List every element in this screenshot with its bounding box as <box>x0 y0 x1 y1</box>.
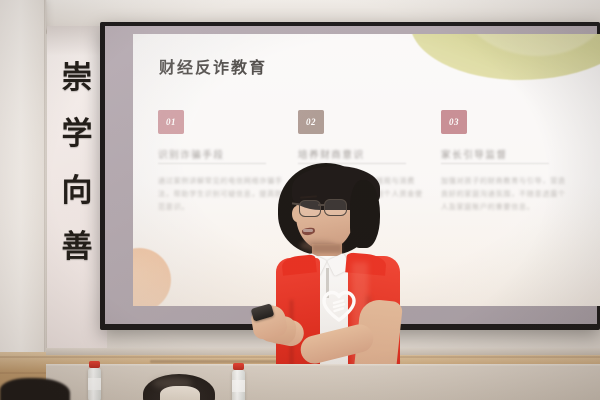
water-bottle-label <box>88 378 101 390</box>
calligraphy-char-2: 学 <box>62 118 93 149</box>
water-bottle-cap <box>89 361 100 368</box>
slide-column-heading-3: 家长引导监督 <box>441 147 573 161</box>
slide-column-3: 03 家长引导监督 加强对孩子的财商教育与引导，营造良好的家庭沟通氛围，不随意透… <box>441 110 573 215</box>
audience-collar <box>160 386 200 400</box>
calligraphy-char-1: 崇 <box>62 62 93 93</box>
presenter-hair-side <box>350 180 380 248</box>
slide-title: 财经反诈教育 <box>159 54 267 78</box>
slide-column-body-3: 加强对孩子的财商教育与引导，营造良好的家庭沟通氛围，不随意透露个人及家庭账户的重… <box>441 176 567 215</box>
slide-column-rule <box>441 163 549 164</box>
panel-shadow <box>47 26 107 56</box>
heart-hand-volunteer-logo-icon <box>322 290 356 322</box>
structural-column <box>0 0 46 368</box>
calligraphy-char-3: 向 <box>62 175 93 206</box>
glasses-right-lens <box>324 199 347 216</box>
presenter-teeth <box>303 229 313 232</box>
calligraphy-char-4: 善 <box>62 231 93 262</box>
water-bottle-label <box>232 380 245 392</box>
slide-badge-01: 01 <box>158 110 184 134</box>
slide-column-heading-1: 识别诈骗手段 <box>158 147 290 161</box>
table-top <box>46 366 600 400</box>
water-bottle-cap <box>233 363 244 370</box>
wall-calligraphy: 崇 学 向 善 <box>50 62 104 262</box>
slide-badge-02: 02 <box>298 110 324 134</box>
glasses-left-lens <box>299 200 321 217</box>
glasses-bridge <box>318 204 325 206</box>
audience-silhouette <box>0 378 70 400</box>
presenter-neck-shadow <box>312 244 342 253</box>
slide-badge-03: 03 <box>441 110 467 134</box>
slide-column-heading-2: 培养财商意识 <box>298 147 430 161</box>
presentation-photo: 崇 学 向 善 财经反诈教育 01 识别诈骗手段 通过案例讲解常见的电信网络诈骗… <box>0 0 600 400</box>
